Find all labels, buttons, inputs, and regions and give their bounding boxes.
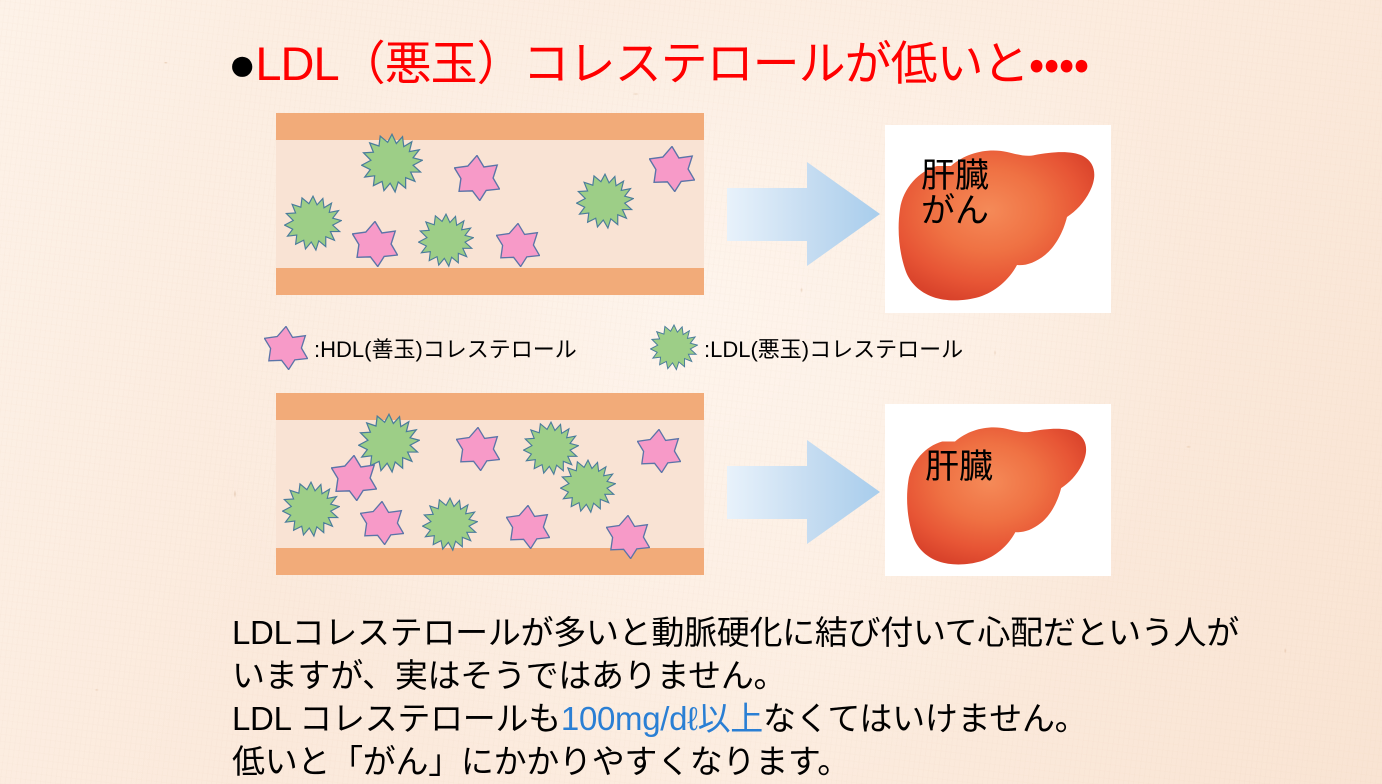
- arrow-right-icon: [727, 440, 880, 545]
- body-line-3-post: なくてはいけません。: [763, 700, 1087, 737]
- hdl-particle: [454, 155, 500, 201]
- hdl-particle: [360, 501, 404, 545]
- liver-illustration: [885, 404, 1111, 576]
- vessel-wall-bottom: [276, 268, 704, 295]
- normal-ldl-vessel-diagram: [276, 393, 704, 575]
- hdl-particle: [506, 505, 550, 549]
- hdl-particle: [352, 221, 398, 267]
- vessel-wall-top: [276, 393, 704, 420]
- ldl-particle: [361, 133, 423, 195]
- legend-hdl-label: :HDL(善玉)コレステロール: [314, 332, 577, 364]
- title-text: LDL（悪玉）コレステロールが低いと・・・・: [255, 37, 1088, 90]
- ldl-particle: [560, 459, 616, 515]
- body-line-3: LDL コレステロールも100mg/dℓ以上なくてはいけません。: [232, 698, 1342, 741]
- legend-ldl: :LDL(悪玉)コレステロール: [650, 324, 963, 372]
- liver-label: 肝臓: [925, 450, 993, 485]
- hdl-particle: [649, 146, 695, 192]
- vessel-wall-top: [276, 113, 704, 140]
- body-line-2: いますが、実はそうではありません。: [232, 655, 1342, 698]
- legend-ldl-label: :LDL(悪玉)コレステロール: [704, 332, 963, 364]
- hdl-particle: [606, 515, 650, 559]
- liver-illustration: [885, 125, 1111, 313]
- hdl-particle: [496, 223, 540, 267]
- arrow-right-icon: [727, 162, 880, 267]
- bullet-icon: ●: [228, 37, 255, 90]
- slide-canvas: ●LDL（悪玉）コレステロールが低いと・・・・: [0, 0, 1382, 784]
- liver-cancer-image: 肝臓 がん: [885, 125, 1111, 313]
- hdl-legend-star-icon: [264, 326, 308, 370]
- body-line-1: LDLコレステロールが多いと動脈硬化に結び付いて心配だという人が: [232, 612, 1342, 655]
- low-ldl-vessel-diagram: [276, 113, 704, 295]
- body-paragraph: LDLコレステロールが多いと動脈硬化に結び付いて心配だという人が いますが、実は…: [232, 612, 1342, 784]
- body-line-3-highlight: 100mg/dℓ以上: [561, 700, 763, 737]
- liver-label: 肝臓 がん: [921, 159, 989, 230]
- healthy-liver-image: 肝臓: [885, 404, 1111, 576]
- page-title: ●LDL（悪玉）コレステロールが低いと・・・・: [228, 40, 1089, 87]
- body-line-4: 低いと「がん」にかかりやすくなります。: [232, 741, 1342, 784]
- body-line-3-pre: LDL コレステロールも: [232, 700, 561, 737]
- ldl-particle: [418, 213, 474, 269]
- hdl-particle: [331, 455, 377, 501]
- ldl-particle: [284, 195, 342, 253]
- ldl-legend-star-icon: [650, 324, 698, 372]
- legend-hdl: :HDL(善玉)コレステロール: [264, 326, 577, 370]
- hdl-particle: [456, 427, 500, 471]
- hdl-particle: [637, 429, 681, 473]
- ldl-particle: [422, 497, 478, 553]
- ldl-particle: [576, 173, 634, 231]
